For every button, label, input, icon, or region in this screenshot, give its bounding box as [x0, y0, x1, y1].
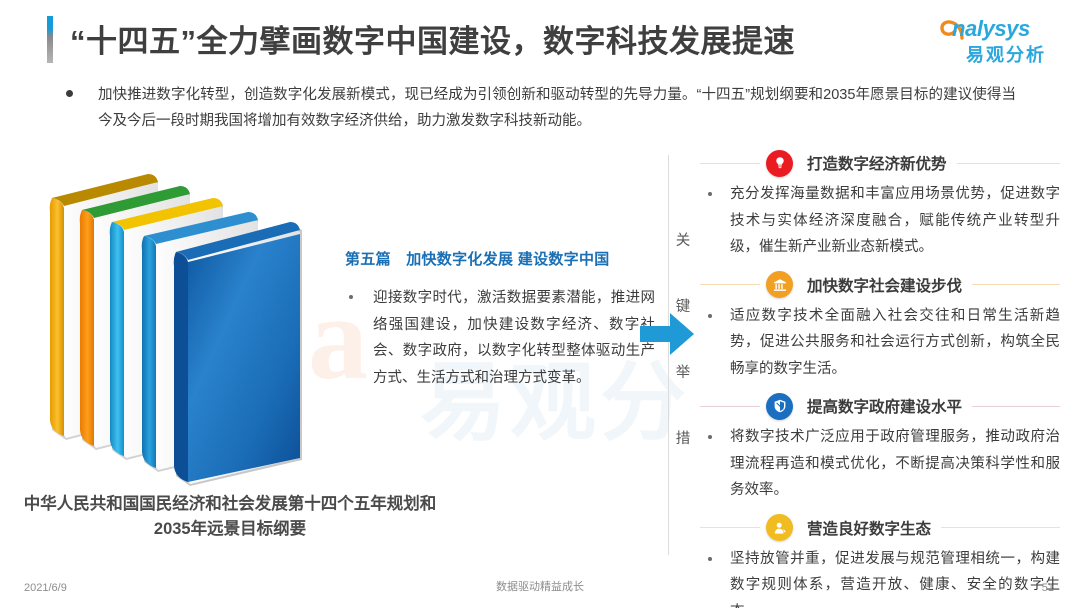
vlabel-char-1: 键	[672, 274, 694, 340]
vlabel-char-0: 关	[672, 208, 694, 274]
bullet-dot-icon	[708, 557, 712, 561]
key-measures-panel: 打造数字经济新优势 充分发挥海量数据和丰富应用场景优势，促进数字技术与实体经济深…	[700, 148, 1060, 608]
rule-left-1	[700, 163, 760, 164]
stack-of-books-icon	[40, 168, 320, 488]
middle-title: 第五篇 加快数字化发展 建设数字中国	[345, 248, 655, 269]
measure-body-text-1: 充分发挥海量数据和丰富应用场景优势，促进数字技术与实体经济深度融合，赋能传统产业…	[730, 186, 1060, 255]
rule-right-1	[957, 163, 1060, 164]
bullet-dot-icon	[708, 435, 712, 439]
middle-body-text: 迎接数字时代，激活数据要素潜能，推进网络强国建设，加快建设数字经济、数字社会、数…	[373, 290, 655, 386]
key-measures-label: 关 键 举 措	[672, 208, 694, 472]
title-accent-bar	[47, 16, 53, 63]
bullet-dot-icon	[66, 90, 73, 97]
books-caption: 中华人民共和国国民经济和社会发展第十四个五年规划和2035年远景目标纲要	[20, 492, 440, 542]
footer-slogan: 数据驱动精益成长	[0, 578, 1080, 594]
measure-body-text-3: 将数字技术广泛应用于政府管理服务，推动政府治理流程再造和模式优化，不断提高决策科…	[730, 429, 1060, 498]
rule-left-3	[700, 406, 760, 407]
measure-section-1: 打造数字经济新优势 充分发挥海量数据和丰富应用场景优势，促进数字技术与实体经济深…	[700, 148, 1060, 261]
analysys-logo: nalysys 易观分析	[938, 14, 1058, 66]
middle-column: 第五篇 加快数字化发展 建设数字中国 迎接数字时代，激活数据要素潜能，推进网络强…	[345, 248, 655, 391]
measure-section-3: 提高数字政府建设水平 将数字技术广泛应用于政府管理服务，推动政府治理流程再造和模…	[700, 391, 1060, 504]
middle-body: 迎接数字时代，激活数据要素潜能，推进网络强国建设，加快建设数字经济、数字社会、数…	[345, 285, 655, 391]
person-icon	[766, 514, 793, 541]
bullet-dot-icon	[708, 192, 712, 196]
measure-header-1: 打造数字经济新优势	[700, 148, 1060, 178]
rule-left-2	[700, 284, 760, 285]
rule-right-3	[972, 406, 1060, 407]
bank-building-icon	[766, 271, 793, 298]
rule-right-2	[972, 284, 1060, 285]
lightbulb-icon	[766, 150, 793, 177]
measure-title-3: 提高数字政府建设水平	[807, 395, 962, 417]
vlabel-char-3: 措	[672, 406, 694, 472]
measure-body-4: 坚持放管并重，促进发展与规范管理相统一，构建数字规则体系，营造开放、健康、安全的…	[700, 546, 1060, 608]
bullet-dot-icon	[349, 295, 353, 299]
measure-section-2: 加快数字社会建设步伐 适应数字技术全面融入社会交往和日常生活新趋势，促进公共服务…	[700, 270, 1060, 383]
logo-wordmark: nalysys	[952, 16, 1030, 42]
lead-paragraph: 加快推进数字化转型，创造数字化发展新模式，现已经成为引领创新和驱动转型的先导力量…	[66, 82, 1016, 134]
books-illustration	[40, 168, 320, 488]
logo-chinese-name: 易观分析	[966, 41, 1046, 67]
measure-body-text-2: 适应数字技术全面融入社会交往和日常生活新趋势，促进公共服务和社会运行方式创新，构…	[730, 308, 1060, 377]
measure-body-3: 将数字技术广泛应用于政府管理服务，推动政府治理流程再造和模式优化，不断提高决策科…	[700, 424, 1060, 504]
footer-page-number: 51	[1042, 582, 1054, 594]
bullet-dot-icon	[708, 314, 712, 318]
measure-header-4: 营造良好数字生态	[700, 513, 1060, 543]
shield-icon	[766, 393, 793, 420]
rule-left-4	[700, 527, 760, 528]
measure-body-1: 充分发挥海量数据和丰富应用场景优势，促进数字技术与实体经济深度融合，赋能传统产业…	[700, 181, 1060, 261]
vlabel-char-2: 举	[672, 340, 694, 406]
measure-header-3: 提高数字政府建设水平	[700, 391, 1060, 421]
measure-title-1: 打造数字经济新优势	[807, 152, 947, 174]
measure-title-4: 营造良好数字生态	[807, 517, 931, 539]
measure-body-2: 适应数字技术全面融入社会交往和日常生活新趋势，促进公共服务和社会运行方式创新，构…	[700, 303, 1060, 383]
page-title: “十四五”全力擘画数字中国建设，数字科技发展提速	[70, 16, 795, 61]
measure-title-2: 加快数字社会建设步伐	[807, 274, 962, 296]
lead-text: 加快推进数字化转型，创造数字化发展新模式，现已经成为引领创新和驱动转型的先导力量…	[66, 82, 1016, 134]
measure-header-2: 加快数字社会建设步伐	[700, 270, 1060, 300]
slide-root: a 易观分 “十四五”全力擘画数字中国建设，数字科技发展提速 nalysys 易…	[0, 0, 1080, 608]
rule-right-4	[941, 527, 1060, 528]
